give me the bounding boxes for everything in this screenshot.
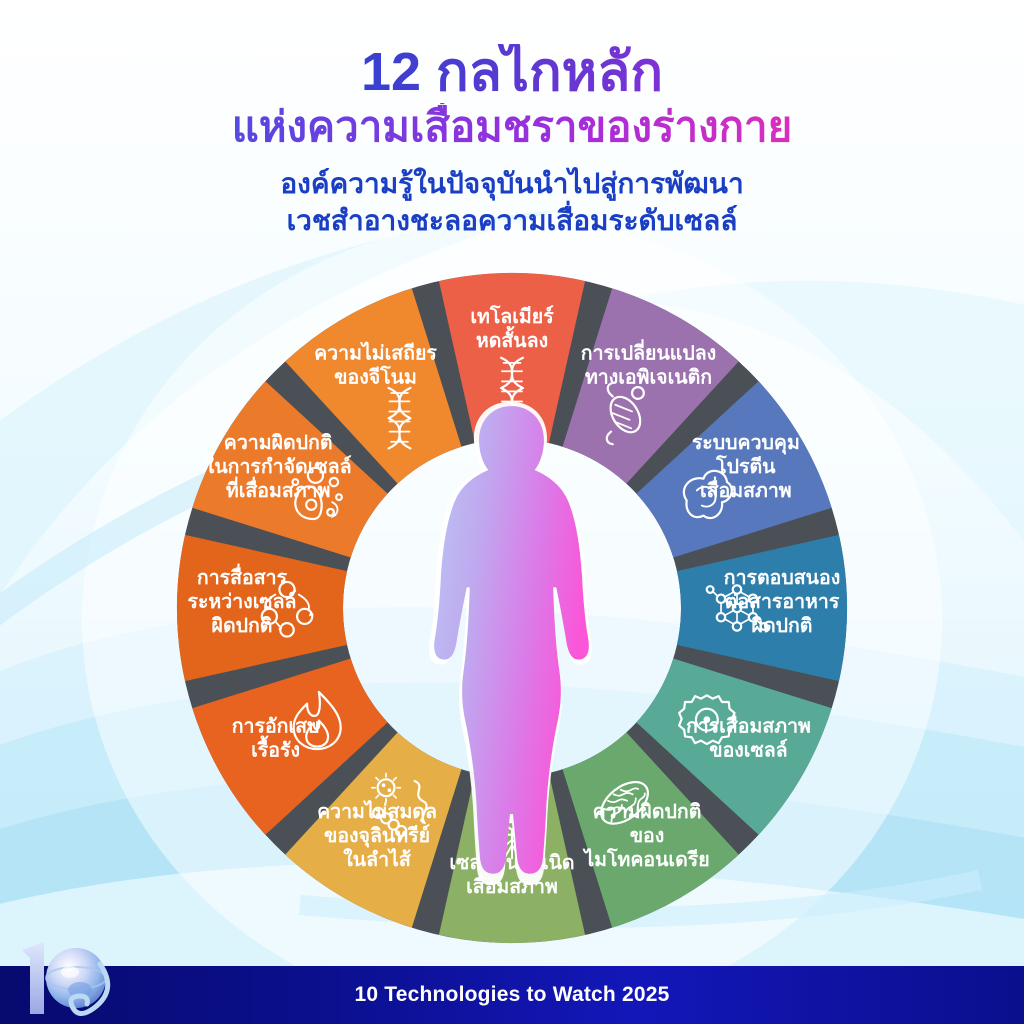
ten-technologies-sphere-logo (14, 938, 122, 1022)
segment-label: การเปลี่ยนแปลงทางเอพิเจเนติก (581, 339, 716, 389)
footer-bar: 10 Technologies to Watch 2025 (0, 966, 1024, 1024)
page-subtitle-line2: เวชสำอางชะลอความเสื่อมระดับเซลล์ (0, 203, 1024, 239)
footer-title: 10 Technologies to Watch 2025 (354, 983, 669, 1007)
aging-hallmarks-wheel: เทโลเมียร์หดสั้นลง การเปลี่ยนแปลงทางเอพิ… (132, 268, 892, 948)
page-title-line1: 12 กลไกหลัก (0, 44, 1024, 101)
page-title-line2: แห่งความเสื่อมชราของร่างกาย (0, 103, 1024, 150)
segment-label: ความผิดปกติในการกำจัดเซลล์ที่เสื่อมสภาพ (205, 432, 352, 502)
header: 12 กลไกหลัก แห่งความเสื่อมชราของร่างกาย … (0, 44, 1024, 239)
page-subtitle-line1: องค์ความรู้ในปัจจุบันนำไปสู่การพัฒนา (0, 166, 1024, 202)
